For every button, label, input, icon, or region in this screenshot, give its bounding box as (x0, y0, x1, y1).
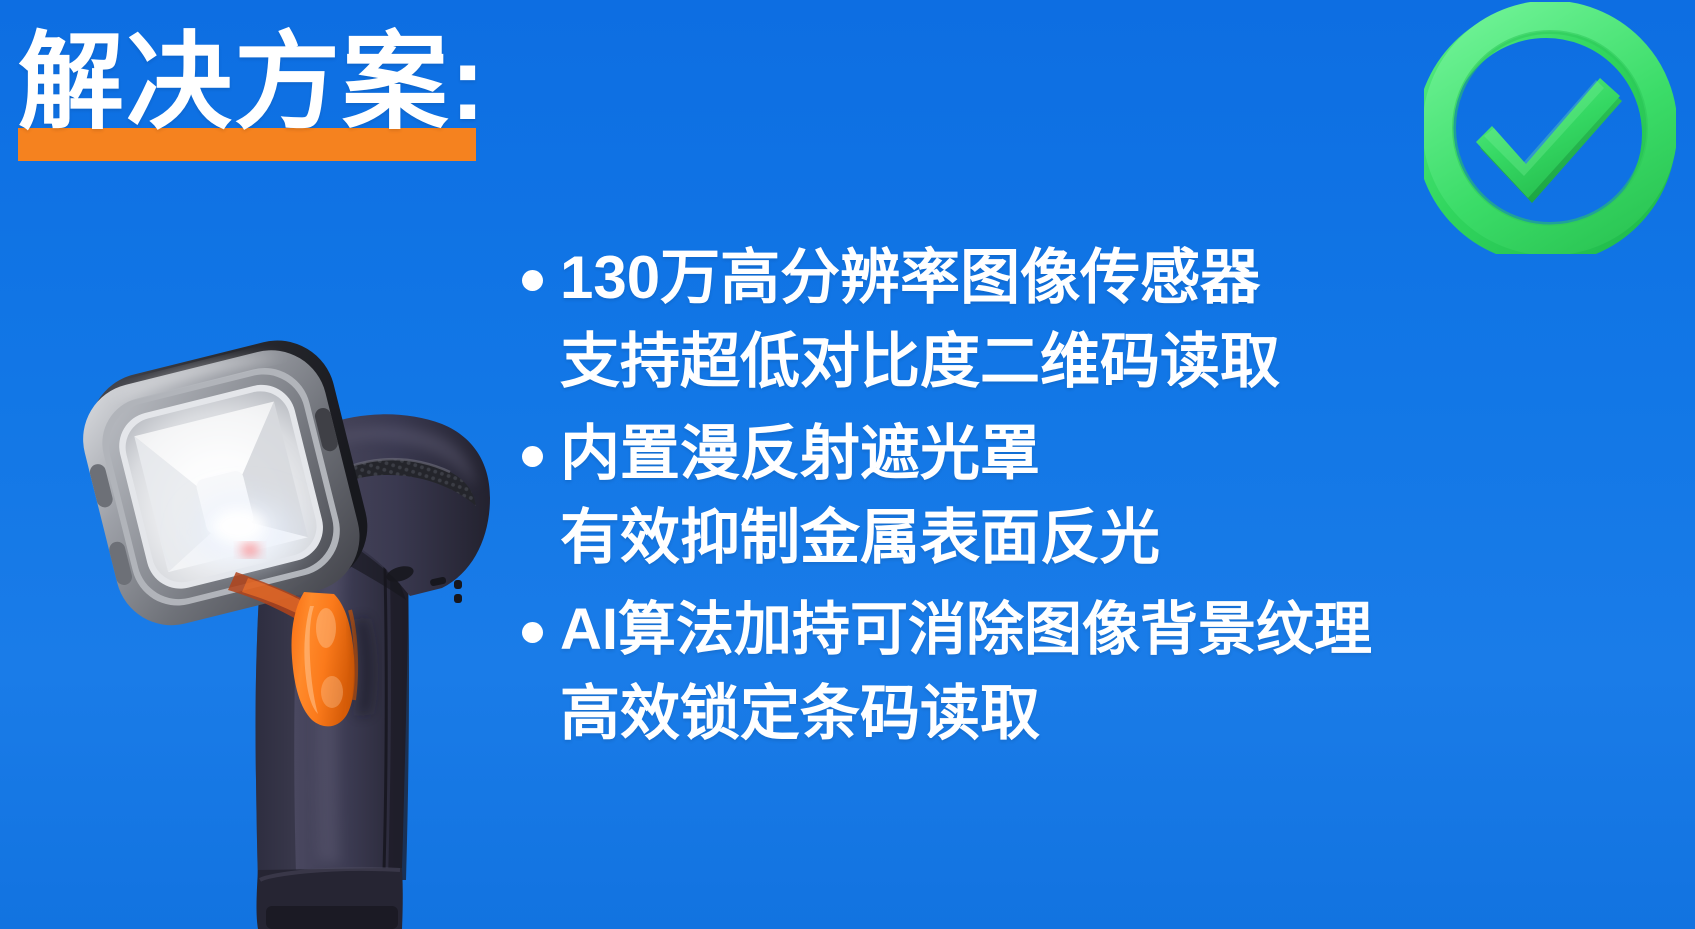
list-item: 130万高分辨率图像传感器 支持超低对比度二维码读取 (512, 236, 1687, 404)
bullet-text-group: 内置漫反射遮光罩 有效抑制金属表面反光 (560, 412, 1687, 580)
feature-bullet-list: 130万高分辨率图像传感器 支持超低对比度二维码读取 内置漫反射遮光罩 有效抑制… (512, 236, 1687, 764)
bullet-line: 有效抑制金属表面反光 (560, 496, 1687, 580)
bullet-text-group: AI算法加持可消除图像背景纹理 高效锁定条码读取 (560, 588, 1687, 756)
list-item: 内置漫反射遮光罩 有效抑制金属表面反光 (512, 412, 1687, 580)
bullet-line: 支持超低对比度二维码读取 (560, 320, 1687, 404)
page-title: 解决方案: (18, 18, 487, 148)
bullet-text-group: 130万高分辨率图像传感器 支持超低对比度二维码读取 (560, 236, 1687, 404)
bullet-line: 内置漫反射遮光罩 (560, 412, 1687, 496)
check-circle-icon (1424, 2, 1676, 254)
list-item: AI算法加持可消除图像背景纹理 高效锁定条码读取 (512, 588, 1687, 756)
bullet-dot-icon (522, 270, 543, 291)
bullet-line: 130万高分辨率图像传感器 (560, 236, 1687, 320)
bullet-dot-icon (522, 622, 543, 643)
slide-root: 解决方案: (0, 0, 1695, 929)
bullet-dot-icon (522, 446, 543, 467)
bullet-line: AI算法加持可消除图像背景纹理 (560, 588, 1687, 672)
barcode-scanner-icon (70, 180, 490, 929)
bullet-line: 高效锁定条码读取 (560, 672, 1687, 756)
page-title-group: 解决方案: (18, 18, 638, 168)
